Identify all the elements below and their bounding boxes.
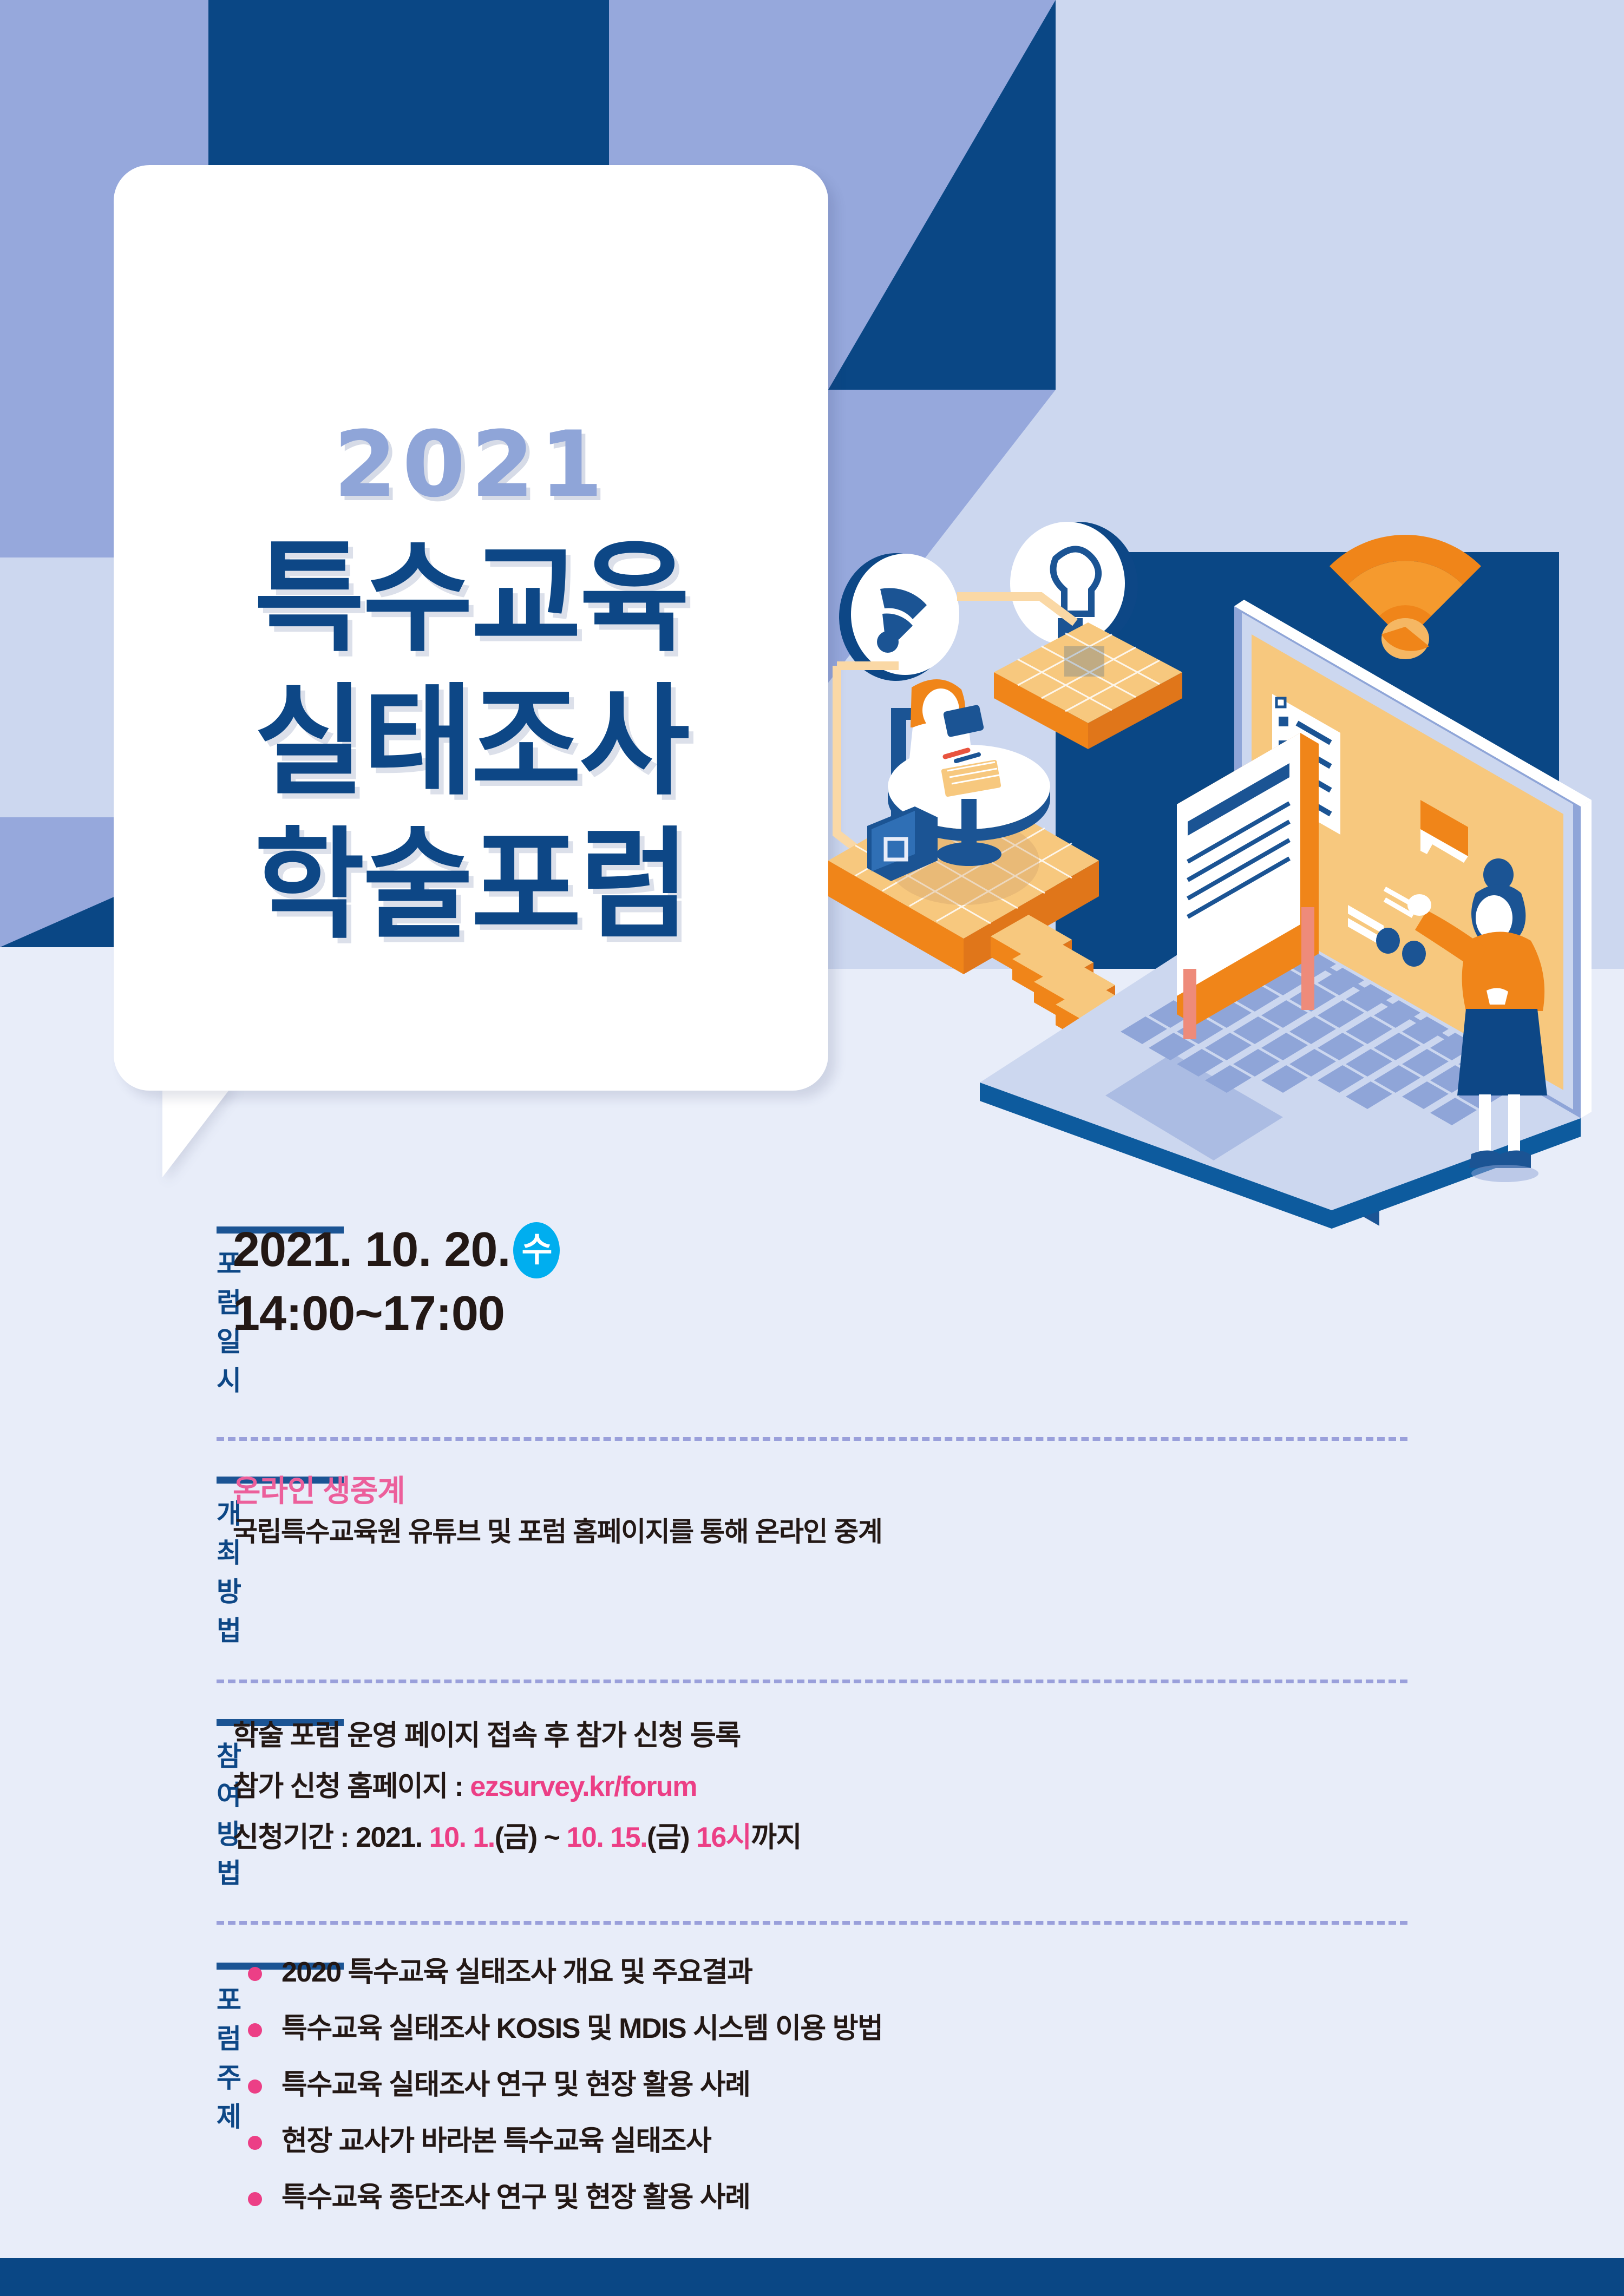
topic-text: 2020 특수교육 실태조사 개요 및 주요결과 bbox=[281, 1957, 752, 1988]
bullet-dot-icon bbox=[248, 1967, 262, 1981]
registration-end-hour: 16시 bbox=[696, 1822, 751, 1853]
list-item: 현장 교사가 바라본 특수교육 실태조사 bbox=[248, 2127, 1624, 2155]
wifi-icon-orange bbox=[1330, 535, 1481, 659]
label-forum-date: 포럼 일시 bbox=[0, 1207, 217, 1398]
hosting-method-heading: 온라인 생중계 bbox=[233, 1472, 1624, 1510]
background-block-pale-topright bbox=[1056, 0, 1624, 390]
label-topics: 포럼 주제 bbox=[0, 1943, 217, 2240]
topics-list: 2020 특수교육 실태조사 개요 및 주요결과 특수교육 실태조사 KOSIS… bbox=[248, 1958, 1624, 2212]
hosting-method-detail: 국립특수교육원 유튜브 및 포럼 홈페이지를 통해 온라인 중계 bbox=[233, 1514, 1624, 1550]
registration-end-date: 10. 15. bbox=[567, 1822, 647, 1853]
section-hosting-method: 개최 방법 온라인 생중계 국립특수교육원 유튜브 및 포럼 홈페이지를 통해 … bbox=[0, 1457, 1624, 1648]
bullet-dot-icon bbox=[248, 2192, 262, 2206]
divider-1 bbox=[217, 1437, 1407, 1441]
registration-period-label: 신청기간 : 2021. bbox=[233, 1822, 429, 1853]
platform-upper bbox=[994, 622, 1182, 749]
title-line-2: 실태조사 bbox=[114, 682, 828, 802]
forum-date-value: 2021. 10. 20. bbox=[233, 1225, 510, 1275]
topic-text: 특수교육 종단조사 연구 및 현장 활용 사례 bbox=[281, 2182, 750, 2213]
registration-end-day: (금) bbox=[647, 1822, 696, 1853]
info-panel: 포럼 일시 2021. 10. 20. 수 14:00~17:00 개최 방법 … bbox=[0, 1207, 1624, 2240]
year-label: 2021 bbox=[114, 411, 828, 517]
list-item: 특수교육 실태조사 KOSIS 및 MDIS 시스템 이용 방법 bbox=[248, 2015, 1624, 2043]
bullet-dot-icon bbox=[248, 2023, 262, 2037]
title-line-1: 특수교육 bbox=[114, 539, 828, 659]
list-item: 2020 특수교육 실태조사 개요 및 주요결과 bbox=[248, 1958, 1624, 1986]
divider-3 bbox=[217, 1921, 1407, 1925]
registration-url[interactable]: ezsurvey.kr/forum bbox=[470, 1771, 697, 1802]
topic-text: 현장 교사가 바라본 특수교육 실태조사 bbox=[281, 2126, 711, 2157]
section-topics: 포럼 주제 2020 특수교육 실태조사 개요 및 주요결과 특수교육 실태조사… bbox=[0, 1943, 1624, 2240]
label-participation: 참여 방법 bbox=[0, 1700, 217, 1891]
poster-root: 2021 특수교육 실태조사 학술포럼 bbox=[0, 0, 1624, 2296]
registration-site-label: 참가 신청 홈페이지 : bbox=[233, 1771, 470, 1802]
forum-date-value-row: 2021. 10. 20. 수 bbox=[233, 1222, 1624, 1278]
section-participation: 참여 방법 학술 포럼 운영 페이지 접속 후 참가 신청 등록 참가 신청 홈… bbox=[0, 1700, 1624, 1891]
registration-start-day: (금) ~ bbox=[495, 1822, 567, 1853]
participation-line-2: 참가 신청 홈페이지 : ezsurvey.kr/forum bbox=[233, 1766, 1624, 1808]
hosting-method-body: 온라인 생중계 국립특수교육원 유튜브 및 포럼 홈페이지를 통해 온라인 중계 bbox=[217, 1457, 1624, 1648]
forum-time-value: 14:00~17:00 bbox=[233, 1285, 1624, 1342]
topic-text: 특수교육 실태조사 KOSIS 및 MDIS 시스템 이용 방법 bbox=[281, 2013, 882, 2044]
section-forum-date: 포럼 일시 2021. 10. 20. 수 14:00~17:00 bbox=[0, 1207, 1624, 1398]
bottom-bar bbox=[0, 2258, 1624, 2296]
participation-line-1: 학술 포럼 운영 페이지 접속 후 참가 신청 등록 bbox=[233, 1715, 1624, 1757]
divider-2 bbox=[217, 1680, 1407, 1683]
forum-date-body: 2021. 10. 20. 수 14:00~17:00 bbox=[217, 1207, 1624, 1398]
day-of-week-badge: 수 bbox=[513, 1222, 560, 1278]
isometric-illustration bbox=[785, 460, 1624, 1229]
list-item: 특수교육 종단조사 연구 및 현장 활용 사례 bbox=[248, 2183, 1624, 2212]
participation-line-3: 신청기간 : 2021. 10. 1.(금) ~ 10. 15.(금) 16시까… bbox=[233, 1816, 1624, 1859]
label-hosting-method: 개최 방법 bbox=[0, 1457, 217, 1648]
bullet-dot-icon bbox=[248, 2136, 262, 2150]
registration-start-date: 10. 1. bbox=[429, 1822, 495, 1853]
title-card: 2021 특수교육 실태조사 학술포럼 bbox=[114, 165, 828, 1091]
topic-text: 특수교육 실태조사 연구 및 현장 활용 사례 bbox=[281, 2069, 750, 2101]
title-line-3: 학술포럼 bbox=[114, 825, 828, 946]
topics-body: 2020 특수교육 실태조사 개요 및 주요결과 특수교육 실태조사 KOSIS… bbox=[217, 1943, 1624, 2240]
speech-bubble-tail bbox=[162, 1085, 233, 1177]
participation-body: 학술 포럼 운영 페이지 접속 후 참가 신청 등록 참가 신청 홈페이지 : … bbox=[217, 1700, 1624, 1891]
registration-until: 까지 bbox=[751, 1822, 801, 1853]
bullet-dot-icon bbox=[248, 2079, 262, 2094]
list-item: 특수교육 실태조사 연구 및 현장 활용 사례 bbox=[248, 2071, 1624, 2099]
